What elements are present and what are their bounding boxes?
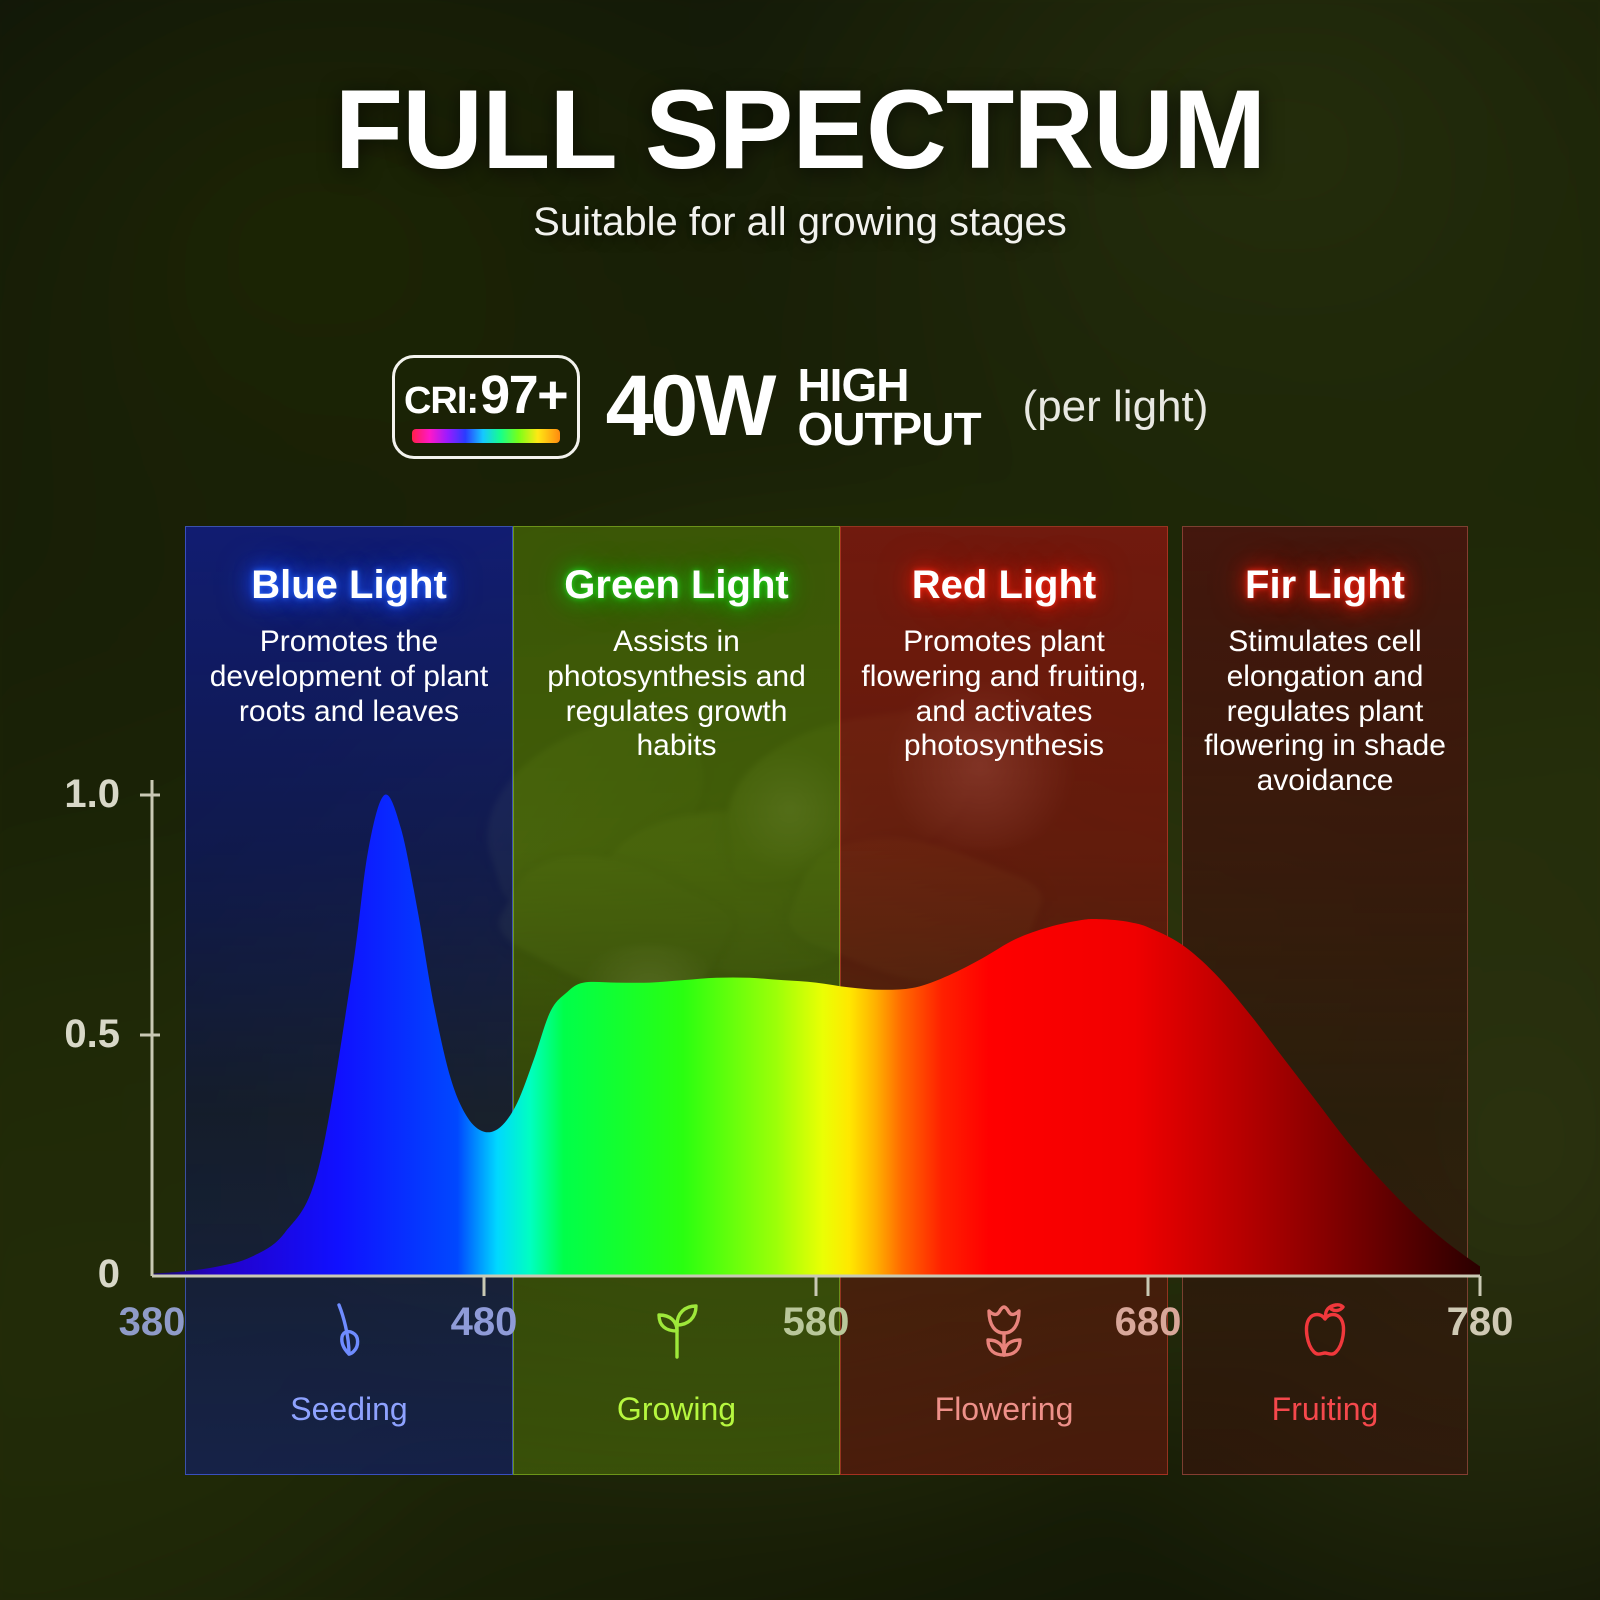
full-spectrum-infographic: FULL SPECTRUM Suitable for all growing s… <box>0 0 1600 1600</box>
output-line-1: HIGH <box>797 363 980 407</box>
stage-label-fruiting: Fruiting <box>1183 1391 1467 1428</box>
spectrum-gradient-bar-icon <box>412 429 560 443</box>
stage-label-growing: Growing <box>514 1391 839 1428</box>
high-output-label: HIGH OUTPUT <box>797 363 980 451</box>
cri-badge: CRI: 97+ <box>392 355 580 459</box>
cri-label: CRI: <box>404 382 478 420</box>
x-tick-380: 380 <box>82 1300 222 1345</box>
panel-green-description: Assists in photosynthesis and regulates … <box>514 625 839 764</box>
y-tick-0: 0 <box>10 1252 120 1297</box>
x-tick-580: 580 <box>746 1300 886 1345</box>
page-title: FULL SPECTRUM <box>0 74 1600 186</box>
panel-red-description: Promotes plant flowering and fruiting, a… <box>841 625 1167 764</box>
output-line-2: OUTPUT <box>797 407 980 451</box>
panel-blue-description: Promotes the development of plant roots … <box>186 625 512 729</box>
y-tick-1.0: 1.0 <box>10 772 120 817</box>
spec-row: CRI: 97+ 40W HIGH OUTPUT (per light) <box>0 355 1600 459</box>
panel-green-heading: Green Light <box>514 563 839 608</box>
per-light-note: (per light) <box>1023 382 1209 432</box>
x-tick-680: 680 <box>1078 1300 1218 1345</box>
y-tick-0.5: 0.5 <box>10 1012 120 1057</box>
panel-fir-heading: Fir Light <box>1183 563 1467 608</box>
panel-fir-description: Stimulates cell elongation and regulates… <box>1183 625 1467 799</box>
page-subtitle: Suitable for all growing stages <box>0 200 1600 245</box>
panel-red-heading: Red Light <box>841 563 1167 608</box>
x-tick-480: 480 <box>414 1300 554 1345</box>
cri-value: 97+ <box>480 368 567 422</box>
stage-label-seeding: Seeding <box>186 1391 512 1428</box>
x-tick-780: 780 <box>1410 1300 1550 1345</box>
stage-label-flowering: Flowering <box>841 1391 1167 1428</box>
panel-blue-heading: Blue Light <box>186 563 512 608</box>
wattage-value: 40W <box>606 368 774 445</box>
